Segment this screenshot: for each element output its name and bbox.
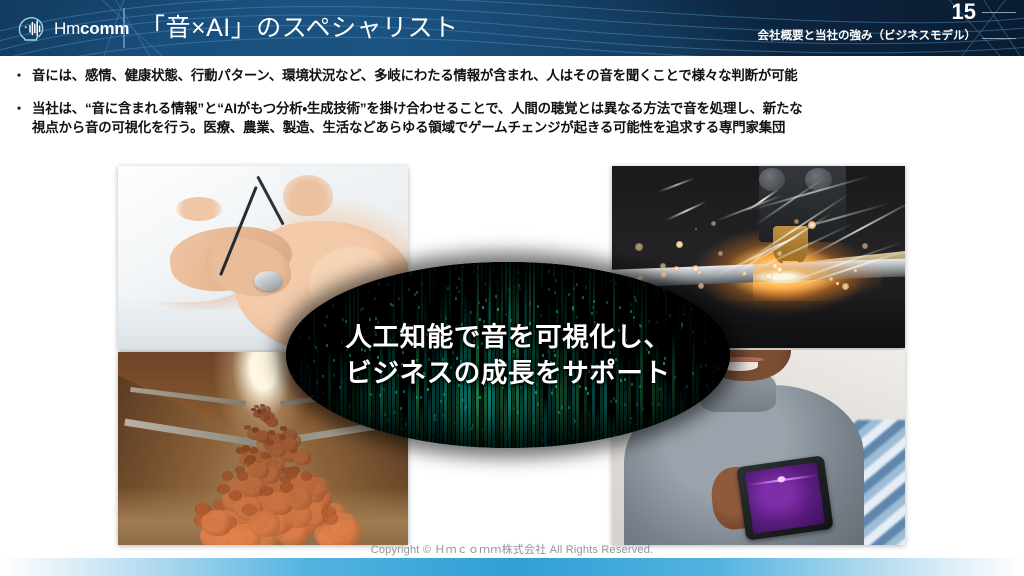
header-subtitle-rule	[982, 38, 1016, 39]
headline-oval: 人工知能で音を可視化し、 ビジネスの成長をサポート	[286, 262, 730, 448]
logo-text-light: Hm	[54, 19, 80, 38]
bullet-line-1: 当社は、“音に含まれる情報”と“AIがもつ分析・生成技術”を掛け合わせることで、…	[32, 101, 802, 116]
hmcomm-logo[interactable]: Hmcomm	[17, 11, 129, 45]
bullet-text: 当社は、“音に含まれる情報”と“AIがもつ分析・生成技術”を掛け合わせることで、…	[32, 99, 1024, 138]
header-subtitle: 会社概要と当社の強み（ビジネスモデル）	[758, 31, 977, 43]
oval-headline-line-1: 人工知能で音を可視化し、	[345, 322, 670, 352]
head-waveform-logo-icon	[17, 12, 49, 44]
page-title: 「音×AI」のスペシャリスト	[140, 8, 458, 48]
copyright-text: Copyright © Ｈｍｃｏｍｍ株式会社 All Rights Reserv…	[0, 541, 1024, 557]
bullet-marker: ・	[0, 66, 32, 85]
logo-text-bold: comm	[80, 19, 129, 38]
logo-wordmark: Hmcomm	[54, 20, 129, 37]
bullet-marker: ・	[0, 99, 32, 118]
bullet-list: ・ 音には、感情、健康状態、行動パターン、環境状況など、多岐にわたる情報が含まれ…	[0, 56, 1024, 138]
page-number: 15	[952, 1, 976, 23]
bullet-line-2: 視点から音の可視化を行う。医療、農業、製造、生活などあらゆる領域でゲームチェンジ…	[32, 118, 1024, 138]
header-divider	[123, 8, 125, 48]
bullet-line-1: 音には、感情、健康状態、行動パターン、環境状況など、多岐にわたる情報が含まれ、人…	[32, 68, 798, 83]
list-item: ・ 当社は、“音に含まれる情報”と“AIがもつ分析・生成技術”を掛け合わせること…	[0, 99, 1024, 138]
bullet-text: 音には、感情、健康状態、行動パターン、環境状況など、多岐にわたる情報が含まれ、人…	[32, 66, 1024, 86]
slide-header: Hmcomm 「音×AI」のスペシャリスト 15 会社概要と当社の強み（ビジネス…	[0, 0, 1024, 56]
page-number-rule	[982, 12, 1016, 13]
footer-bar	[0, 558, 1024, 576]
oval-headline-line-2: ビジネスの成長をサポート	[345, 358, 670, 388]
slide-root: Hmcomm 「音×AI」のスペシャリスト 15 会社概要と当社の強み（ビジネス…	[0, 0, 1024, 576]
list-item: ・ 音には、感情、健康状態、行動パターン、環境状況など、多岐にわたる情報が含まれ…	[0, 66, 1024, 86]
oval-headline: 人工知能で音を可視化し、 ビジネスの成長をサポート	[286, 262, 730, 448]
